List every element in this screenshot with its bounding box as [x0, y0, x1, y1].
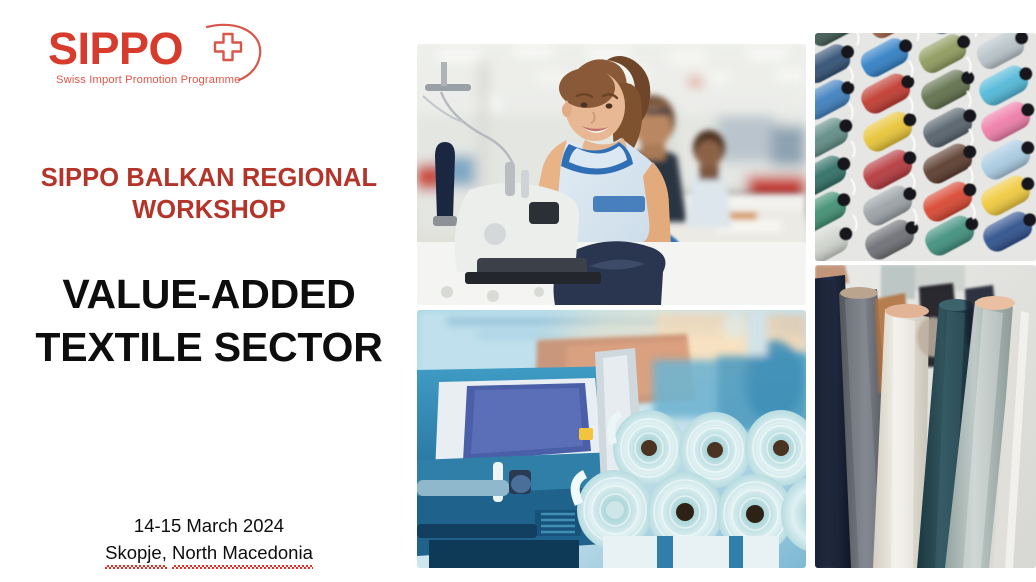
- photo-textile-machine-fabric-rolls: [417, 310, 806, 568]
- headline-line-2: TEXTILE SECTOR: [35, 324, 382, 370]
- sippo-logo: SIPPO Swiss Import Promotion Programme: [48, 26, 278, 96]
- photo-thread-spool-wall: [815, 33, 1036, 261]
- slide-headline: VALUE-ADDED TEXTILE SECTOR: [0, 268, 418, 374]
- event-city: Skopje,: [105, 539, 167, 566]
- sippo-wordmark: SIPPO: [48, 26, 183, 72]
- event-location: Skopje, North Macedonia: [0, 539, 418, 566]
- event-details: 14-15 March 2024 Skopje, North Macedonia: [0, 512, 418, 566]
- photo-fabric-bolts: [815, 265, 1036, 568]
- photo-garment-factory-seamstress: [417, 44, 806, 305]
- presentation-slide: SIPPO Swiss Import Promotion Programme S…: [0, 0, 1036, 582]
- event-dates: 14-15 March 2024: [0, 512, 418, 539]
- sippo-tagline: Swiss Import Promotion Programme: [56, 74, 240, 86]
- headline-line-1: VALUE-ADDED: [62, 271, 355, 317]
- workshop-eyebrow: SIPPO BALKAN REGIONAL WORKSHOP: [0, 162, 418, 226]
- event-country: North Macedonia: [172, 539, 313, 566]
